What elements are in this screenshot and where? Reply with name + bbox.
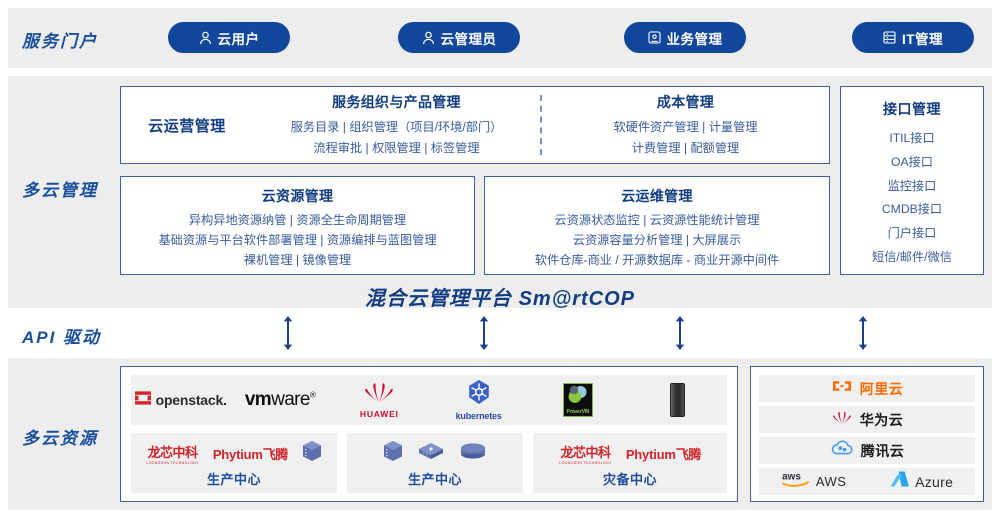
double-arrow-vertical-icon	[673, 316, 687, 350]
column-heading: 成本管理	[548, 92, 823, 112]
loongson-logo: 龙芯中科 LOONGSON TECHNOLOGY	[146, 442, 199, 465]
public-cloud-aws: aws AWS	[781, 470, 847, 493]
rail-label-api: API 驱动	[22, 323, 101, 348]
public-cloud-tencent: 腾讯云	[759, 437, 975, 464]
vendor-label-bold: vm	[245, 389, 271, 410]
interface-management-box: 接口管理 ITIL接口 OA接口 监控接口 CMDB接口 门户接口 短信/邮件/…	[840, 86, 984, 275]
column-heading: 服务组织与产品管理	[259, 92, 534, 112]
portal-pill-label: IT管理	[902, 28, 943, 48]
brand-label-en: Phytium	[213, 447, 263, 462]
server-cube-icon	[302, 440, 322, 467]
datacenter-production-1: 龙芯中科 LOONGSON TECHNOLOGY Phytium飞腾 生产中心	[131, 433, 337, 493]
portal-pill-cloud-user[interactable]: 云用户	[168, 22, 290, 53]
aws-logo: aws	[781, 470, 811, 493]
column-line: 流程审批 | 权限管理 | 标签管理	[259, 138, 534, 158]
server-list-icon	[883, 31, 896, 44]
vendor-label: kubernetes	[456, 411, 502, 421]
user-icon	[422, 31, 435, 45]
rail-label-management: 多云管理	[22, 176, 98, 201]
phytium-logo: Phytium飞腾	[626, 444, 701, 463]
box-heading: 云资源管理	[121, 186, 474, 206]
api-driven-band	[8, 310, 992, 356]
huawei-cloud-logo	[831, 409, 853, 431]
brand-label-cn: 龙芯中科	[561, 442, 611, 461]
column-line: 计费管理 | 配额管理	[548, 138, 823, 158]
interface-item: ITIL接口	[841, 127, 983, 151]
vendor-kubernetes: kubernetes	[429, 379, 528, 421]
brand-label-cn: 龙芯中科	[148, 442, 198, 461]
column-line: 软硬件资产管理 | 计量管理	[548, 117, 823, 137]
double-arrow-vertical-icon	[281, 316, 295, 350]
cloud-ops-management-box: 云运维管理 云资源状态监控 | 云资源性能统计管理 云资源容量分析管理 | 大屏…	[484, 176, 830, 275]
box-line: 裸机管理 | 镜像管理	[121, 251, 474, 271]
huawei-flower-logo	[362, 381, 396, 408]
datacenter-production-2: 生产中心	[347, 433, 523, 493]
interface-item: OA接口	[841, 151, 983, 175]
vendor-label: HUAWEI	[360, 409, 399, 419]
box-heading: 接口管理	[841, 99, 983, 119]
phytium-logo: Phytium飞腾	[213, 444, 288, 463]
public-cloud-label: 腾讯云	[861, 441, 905, 461]
public-cloud-alibaba: 阿里云	[759, 375, 975, 402]
box-line: 基础资源与平台软件部署管理 | 资源编排与蓝图管理	[121, 231, 474, 251]
box-line: 云资源容量分析管理 | 大屏展示	[485, 231, 829, 251]
vendor-server-rack	[628, 383, 727, 417]
architecture-diagram: 服务门户 云用户 云管理员 业务管理 IT管理 多云管理 云运营管理 服务组织与…	[0, 0, 1000, 518]
openstack-logo	[135, 390, 151, 411]
public-cloud-label: 华为云	[860, 410, 904, 430]
tencent-cloud-logo	[830, 440, 854, 462]
alibaba-cloud-logo	[831, 378, 853, 399]
cloud-resource-management-box: 云资源管理 异构异地资源纳管 | 资源全生命周期管理 基础资源与平台软件部署管理…	[120, 176, 475, 275]
datacenter-label: 灾备中心	[603, 469, 657, 488]
public-cloud-label: Azure	[915, 474, 953, 490]
public-cloud-aws-azure-row: aws AWS Azure	[759, 468, 975, 495]
double-arrow-vertical-icon	[477, 316, 491, 350]
vendor-label: openstack.	[156, 392, 227, 408]
server-rack-image	[670, 383, 685, 417]
interface-item: 门户接口	[841, 222, 983, 246]
box-line: 异构异地资源纳管 | 资源全生命周期管理	[121, 211, 474, 231]
registered-mark: ®	[310, 391, 315, 400]
portal-pill-it-management[interactable]: IT管理	[852, 22, 974, 53]
portal-pill-business-management[interactable]: 业务管理	[624, 22, 746, 53]
brand-label-cn: 飞腾	[263, 447, 288, 462]
interface-item: CMDB接口	[841, 198, 983, 222]
box-line: 软件仓库-商业 / 开源数据库 - 商业开源中间件	[485, 251, 829, 271]
datacenter-label: 生产中心	[207, 469, 261, 488]
vendor-huawei: HUAWEI	[330, 381, 429, 419]
public-cloud-huawei: 华为云	[759, 406, 975, 433]
monitor-icon	[648, 31, 661, 44]
public-cloud-label: AWS	[816, 474, 847, 489]
public-cloud-panel: 阿里云 华为云 腾讯云	[750, 366, 984, 502]
public-cloud-label: 阿里云	[860, 379, 904, 399]
user-icon	[199, 31, 212, 45]
brand-label-en: LOONGSON TECHNOLOGY	[559, 461, 612, 465]
portal-pill-cloud-admin[interactable]: 云管理员	[398, 22, 520, 53]
vendor-label: ware	[271, 389, 310, 410]
public-cloud-azure: Azure	[890, 470, 953, 493]
interface-item: 短信/邮件/微信	[841, 246, 983, 270]
brand-label-cn: 飞腾	[676, 447, 701, 462]
cloud-operations-box: 云运营管理 服务组织与产品管理 服务目录 | 组织管理（项目/环境/部门） 流程…	[120, 86, 830, 164]
portal-pill-label: 业务管理	[667, 28, 723, 48]
cost-management-column: 成本管理 软硬件资产管理 | 计量管理 计费管理 | 配额管理	[542, 92, 829, 157]
portal-pill-label: 云管理员	[441, 28, 497, 48]
box-heading: 云运维管理	[485, 186, 829, 206]
server-cube-icon	[383, 440, 403, 467]
vendor-label: PowerVM	[567, 409, 590, 416]
vendor-openstack: openstack.	[131, 390, 230, 411]
vendor-logo-strip: openstack. vmware®	[131, 375, 727, 425]
datacenter-disaster-recovery: 龙芯中科 LOONGSON TECHNOLOGY Phytium飞腾 灾备中心	[533, 433, 727, 493]
vendor-vmware: vmware®	[230, 389, 329, 411]
svg-text:aws: aws	[782, 472, 801, 483]
portal-pill-label: 云用户	[218, 28, 260, 48]
datacenter-label: 生产中心	[408, 469, 462, 488]
rail-label-portal: 服务门户	[22, 27, 98, 52]
double-arrow-vertical-icon	[856, 316, 870, 350]
column-line: 服务目录 | 组织管理（项目/环境/部门）	[259, 117, 534, 137]
private-cloud-resource-panel: openstack. vmware®	[120, 366, 738, 502]
brand-label-en: LOONGSON TECHNOLOGY	[146, 461, 199, 465]
cloud-operations-side-title: 云运营管理	[121, 115, 253, 136]
interface-item: 监控接口	[841, 175, 983, 199]
kubernetes-helm-logo	[466, 379, 492, 410]
platform-title: 混合云管理平台 Sm@rtCOP	[0, 282, 1000, 311]
loongson-logo: 龙芯中科 LOONGSON TECHNOLOGY	[559, 442, 612, 465]
network-switch-icon	[417, 440, 445, 467]
azure-logo	[890, 470, 910, 493]
rail-label-resource: 多云资源	[22, 424, 98, 449]
powervm-logo: PowerVM	[563, 383, 593, 417]
storage-disk-icon	[459, 442, 487, 465]
vendor-powervm: PowerVM	[528, 383, 627, 417]
box-line: 云资源状态监控 | 云资源性能统计管理	[485, 211, 829, 231]
service-product-management-column: 服务组织与产品管理 服务目录 | 组织管理（项目/环境/部门） 流程审批 | 权…	[253, 92, 540, 157]
brand-label-en: Phytium	[626, 447, 676, 462]
